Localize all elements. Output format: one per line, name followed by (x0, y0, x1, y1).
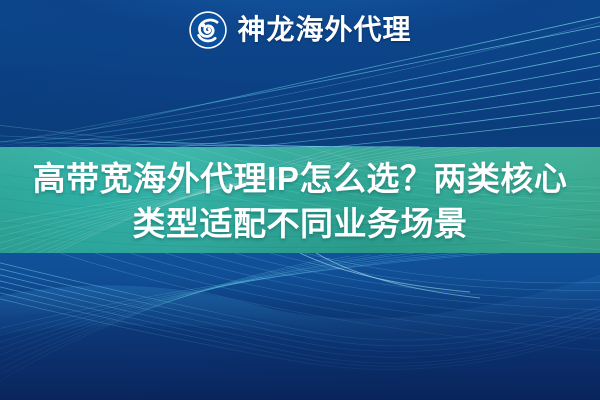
headline-text: 高带宽海外代理IP怎么选？两类核心 类型适配不同业务场景 (0, 156, 600, 246)
background-bottom-shade (0, 280, 600, 400)
headline-line-2: 类型适配不同业务场景 (0, 201, 600, 246)
dragon-swirl-logo-icon (188, 10, 228, 50)
banner-image: 神龙海外代理 高带宽海外代理IP怎么选？两类核心 类型适配不同业务场景 (0, 0, 600, 400)
brand-logo: 神龙海外代理 (0, 10, 600, 50)
headline-line-1: 高带宽海外代理IP怎么选？两类核心 (0, 156, 600, 201)
brand-name: 神龙海外代理 (237, 13, 411, 47)
